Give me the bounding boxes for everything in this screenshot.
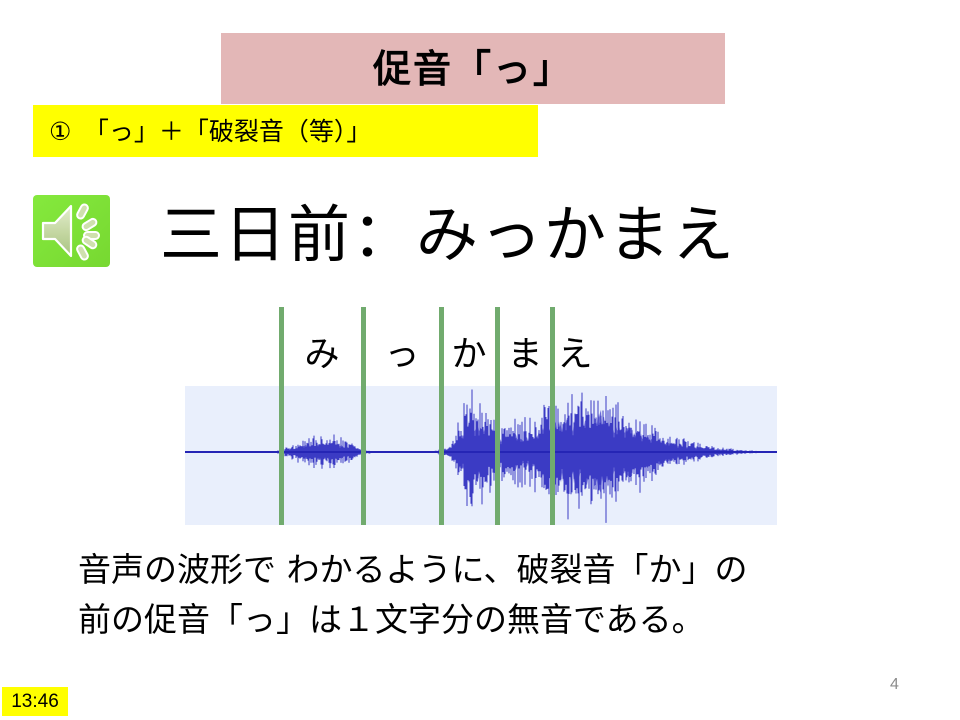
waveform-panel: [185, 386, 777, 525]
slide-canvas: 促音「っ」 ① 「っ」＋「破裂音（等）」: [0, 0, 960, 720]
time-badge-text: 13:46: [11, 692, 59, 711]
kana-label: か: [451, 338, 486, 373]
speaker-icon[interactable]: [33, 195, 110, 267]
waveform-figure: みっかまえ: [0, 300, 960, 535]
segment-divider: [361, 307, 366, 525]
segment-divider: [495, 307, 500, 525]
kana-label-row: みっかまえ: [0, 300, 960, 386]
title-banner: 促音「っ」: [221, 33, 725, 104]
page-title: 促音「っ」: [373, 50, 573, 88]
page-number: 4: [890, 677, 899, 693]
segment-divider: [279, 307, 284, 525]
waveform-spikes: [278, 390, 756, 523]
kana-label: っ: [384, 338, 419, 373]
waveform-plot: [185, 386, 777, 525]
subtitle-label: ① 「っ」＋「破裂音（等）」: [49, 119, 371, 144]
time-badge: 13:46: [2, 687, 68, 716]
subtitle-banner: ① 「っ」＋「破裂音（等）」: [33, 105, 538, 157]
kana-label: ま: [507, 338, 542, 373]
main-word-text: 三日前：みっかまえ: [160, 204, 736, 266]
caption-block: 音声の波形で わかるように、破裂音「か」の 前の促音「っ」は１文字分の無音である…: [78, 545, 888, 645]
kana-label: え: [557, 338, 592, 373]
segment-divider: [550, 307, 555, 525]
caption-line-2: 前の促音「っ」は１文字分の無音である。: [78, 595, 888, 645]
segment-divider: [439, 307, 444, 525]
main-word-heading: 三日前：みっかまえ: [160, 192, 840, 278]
kana-label: み: [304, 338, 339, 373]
caption-line-1: 音声の波形で わかるように、破裂音「か」の: [78, 545, 888, 595]
